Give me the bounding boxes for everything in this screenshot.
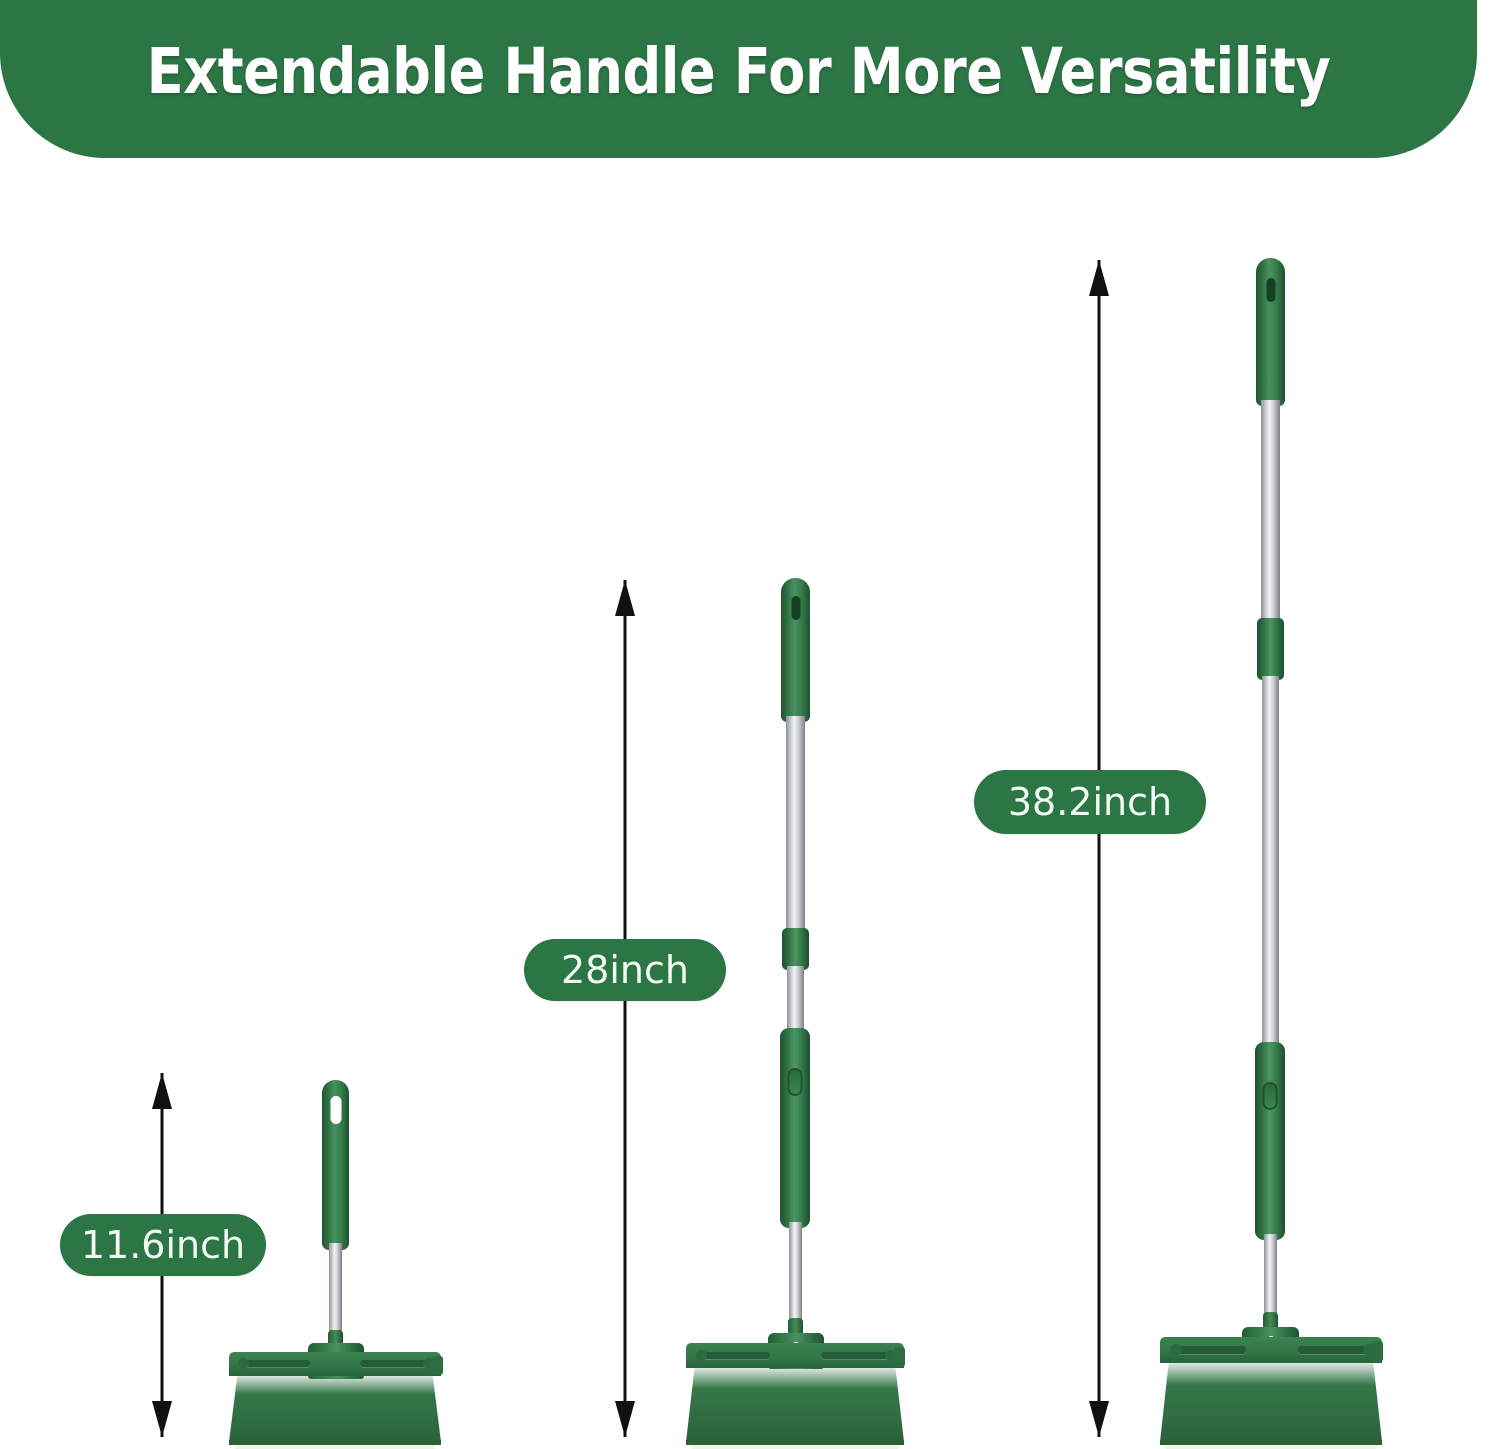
- measurement-label-medium: 28inch: [524, 939, 726, 1001]
- hanging-hole-icon: [791, 596, 800, 620]
- mop-head: [229, 1352, 441, 1449]
- infographic-canvas: Extendable Handle For More Versatility 1…: [0, 0, 1500, 1449]
- metal-shaft-upper: [786, 716, 805, 930]
- mop-head-plate: [1160, 1361, 1382, 1442]
- arrow-head-down-icon: [1089, 1401, 1109, 1437]
- mop-head: [1160, 1337, 1382, 1449]
- hanging-hole-icon: [1266, 278, 1275, 302]
- clip-rail-left: [700, 1352, 770, 1359]
- header-banner: Extendable Handle For More Versatility: [0, 0, 1477, 158]
- measurement-label-long: 38.2inch: [974, 770, 1206, 834]
- mop-head-plate: [229, 1374, 441, 1442]
- cleaning-pad: [692, 1445, 898, 1449]
- arrow-head-up-icon: [1089, 260, 1109, 296]
- clip-rail-left: [1174, 1346, 1246, 1354]
- arrow-head-up-icon: [152, 1073, 172, 1109]
- side-tab: [1372, 1341, 1383, 1362]
- clip-rail-right: [821, 1352, 891, 1359]
- handle-lower-body: [780, 1028, 810, 1228]
- clip-knob-left: [238, 1358, 249, 1369]
- lock-collar-upper: [1257, 618, 1284, 680]
- measurement-label-short: 11.6inch: [60, 1214, 266, 1276]
- arrow-head-up-icon: [615, 580, 635, 616]
- handle-grip: [1256, 258, 1285, 406]
- mop-head: [686, 1343, 904, 1449]
- arrow-shaft: [624, 580, 627, 1437]
- release-button[interactable]: [1263, 1082, 1278, 1110]
- clip-rail-right: [1298, 1346, 1370, 1354]
- side-tab: [432, 1356, 443, 1375]
- handle-grip: [781, 578, 810, 722]
- arrow-head-down-icon: [615, 1401, 635, 1437]
- cleaning-pad: [235, 1445, 435, 1449]
- clip-knob-left: [696, 1350, 707, 1361]
- arrow-shaft: [1098, 260, 1101, 1437]
- lock-collar-upper: [782, 928, 809, 970]
- handle-grip: [322, 1080, 349, 1250]
- release-button[interactable]: [788, 1068, 803, 1096]
- cleaning-pad: [1166, 1445, 1376, 1449]
- metal-shaft-mid: [787, 966, 804, 1034]
- arrow-head-down-icon: [152, 1401, 172, 1437]
- dimension-arrow-long: [1087, 260, 1111, 1437]
- metal-shaft-upper: [1261, 400, 1280, 622]
- hanging-hole-icon: [330, 1096, 341, 1124]
- handle-lower-body: [1255, 1042, 1285, 1240]
- page-title: Extendable Handle For More Versatility: [103, 0, 1373, 158]
- side-tab: [894, 1347, 905, 1367]
- clip-rail-left: [242, 1360, 310, 1367]
- metal-shaft-lower: [789, 1222, 802, 1332]
- clip-rail-right: [360, 1360, 428, 1367]
- metal-shaft-mid: [1262, 676, 1279, 1048]
- dimension-arrow-medium: [613, 580, 637, 1437]
- clip-knob-left: [1170, 1344, 1182, 1356]
- mop-head-plate: [686, 1366, 904, 1442]
